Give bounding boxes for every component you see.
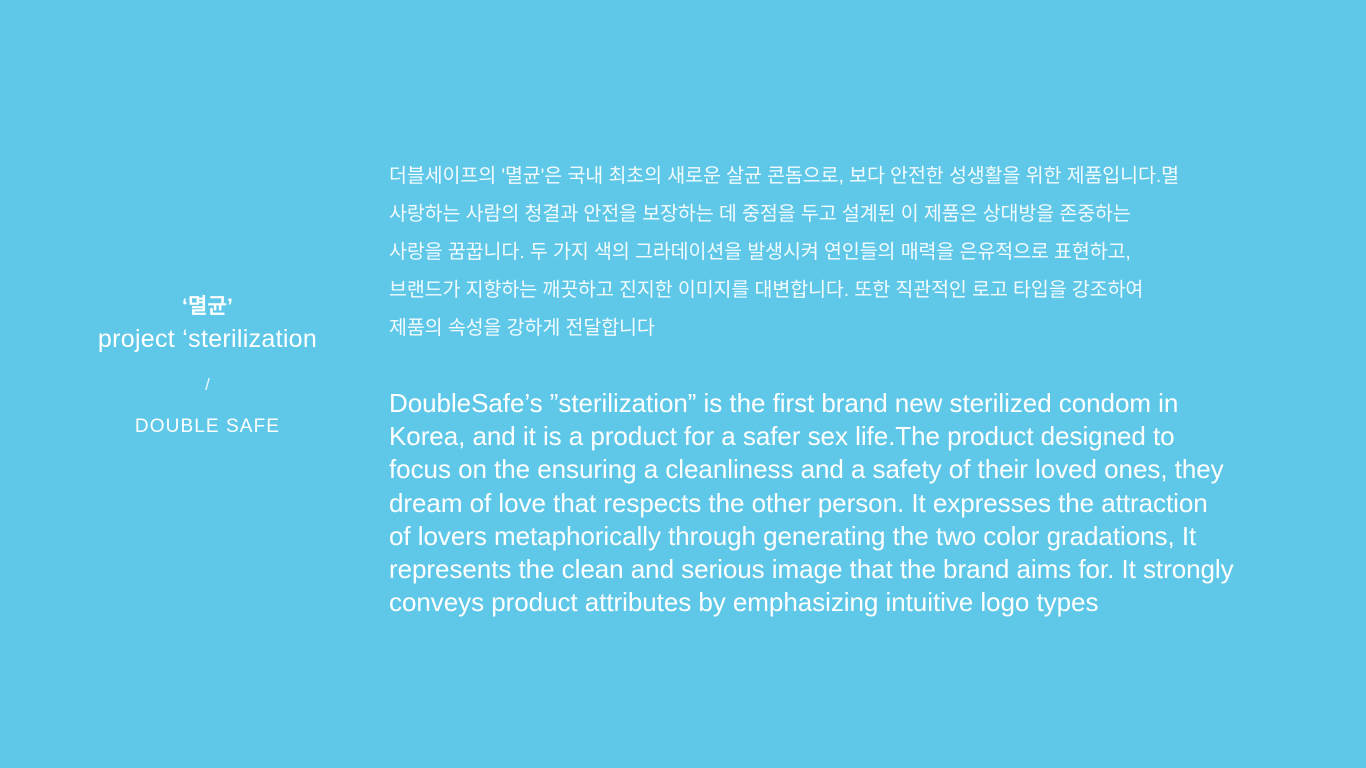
- description-block: 더블세이프의 '멸균'은 국내 최초의 새로운 살균 콘돔으로, 보다 안전한 …: [389, 157, 1329, 347]
- description-korean: 더블세이프의 '멸균'은 국내 최초의 새로운 살균 콘돔으로, 보다 안전한 …: [389, 157, 1329, 347]
- divider-slash: /: [0, 370, 415, 400]
- brand-name: DOUBLE SAFE: [0, 414, 415, 440]
- slide-canvas: ‘멸균’ project ‘sterilization / DOUBLE SAF…: [0, 0, 1366, 768]
- project-title-english: project ‘sterilization: [0, 322, 415, 356]
- description-english: DoubleSafe’s ”sterilization” is the firs…: [389, 387, 1319, 619]
- identity-block: ‘멸균’ project ‘sterilization / DOUBLE SAF…: [0, 292, 415, 440]
- project-title-korean: ‘멸균’: [0, 292, 415, 322]
